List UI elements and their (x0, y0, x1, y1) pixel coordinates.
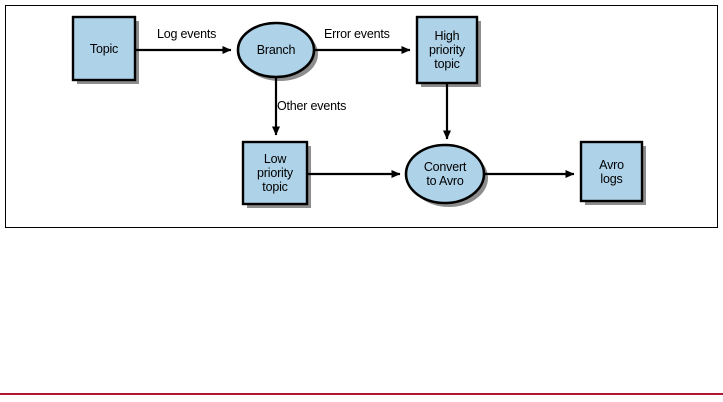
node-convert (406, 145, 484, 203)
edge-label-log-events: Log events (157, 27, 216, 41)
edge-label-error-events: Error events (324, 27, 390, 41)
node-high-priority (417, 17, 477, 83)
node-topic (73, 17, 135, 80)
node-branch (238, 23, 314, 77)
node-avro-logs (581, 142, 642, 201)
edge-lines (135, 50, 574, 174)
node-shapes (73, 17, 642, 204)
bottom-rule (0, 393, 723, 395)
edge-label-other-events: Other events (277, 99, 346, 113)
node-low-priority (243, 142, 307, 204)
